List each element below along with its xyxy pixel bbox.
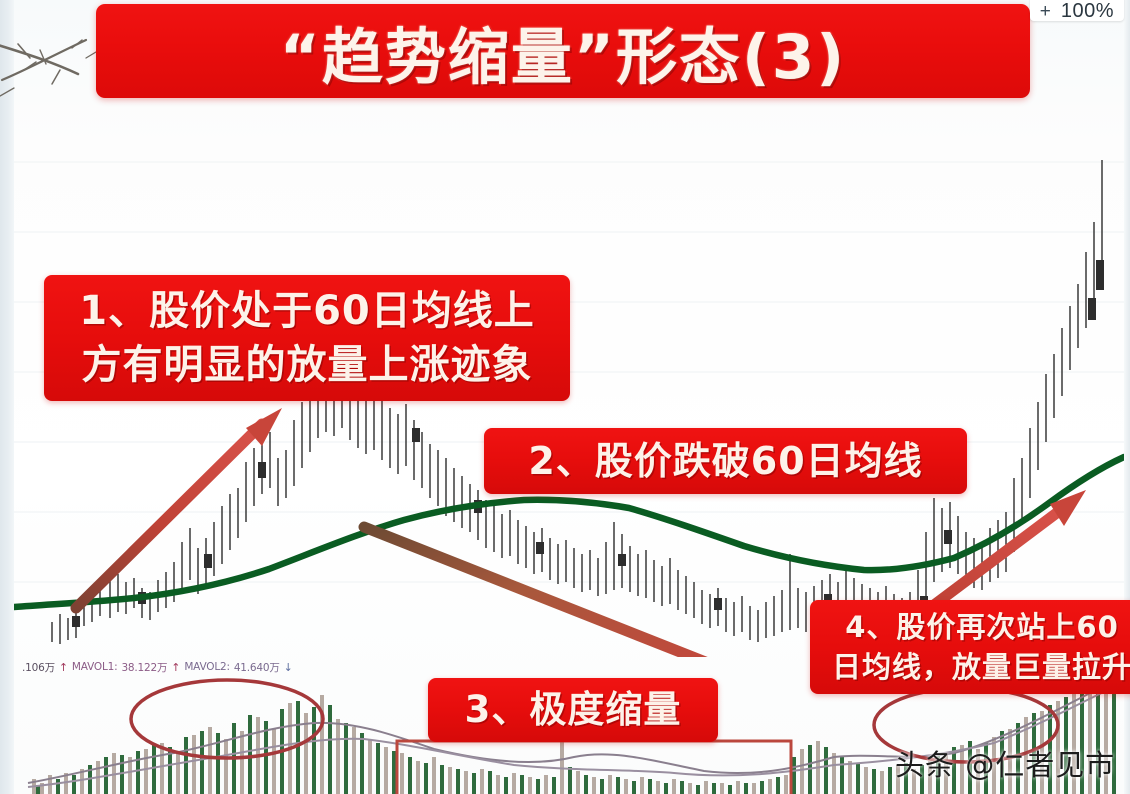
candlestick-series: [52, 160, 1102, 644]
mavol2-down-arrow-icon: ↓: [284, 661, 293, 674]
zoom-level-label: 100%: [1061, 3, 1114, 20]
callout-box-2: 2、股价跌破60日均线: [484, 428, 967, 494]
callout-box-1: 1、股价处于60日均线上 方有明显的放量上涨迹象: [44, 275, 570, 401]
mavol2-value: 41.640万: [234, 660, 280, 675]
page-left-margin: [0, 0, 14, 794]
watermark: 头条 @仁者见市: [895, 742, 1115, 784]
callout-1-line-2: 方有明显的放量上涨迹象: [82, 338, 533, 392]
callout-1-line-1: 1、股价处于60日均线上: [79, 284, 535, 338]
zoom-in-icon[interactable]: +: [1040, 3, 1051, 20]
callout-2-line-1: 2、股价跌破60日均线: [528, 436, 922, 486]
mavol1-value: 38.122万: [121, 660, 167, 675]
volume-value: .106万: [22, 660, 55, 675]
mavol2-label: MAVOL2:: [184, 661, 230, 673]
volume-up-arrow-icon: ↑: [59, 661, 68, 674]
page-title: “趋势缩量”形态(3): [280, 7, 846, 96]
arrow-breakdown: [364, 527, 778, 657]
screenshot-root: .106万 ↑ MAVOL1: 38.122万 ↑ MAVOL2: 41.640…: [0, 0, 1130, 794]
callout-4-line-2: 日均线，放量巨量拉升: [832, 647, 1130, 687]
callout-3-line-1: 3、极度缩量: [465, 686, 682, 734]
volume-indicator-readout: .106万 ↑ MAVOL1: 38.122万 ↑ MAVOL2: 41.640…: [22, 657, 362, 677]
zoom-control[interactable]: + 100%: [1030, 0, 1124, 21]
mavol1-up-arrow-icon: ↑: [171, 661, 180, 674]
mavol1-label: MAVOL1:: [72, 661, 118, 673]
callout-box-4: 4、股价再次站上60 日均线，放量巨量拉升: [810, 600, 1130, 694]
callout-box-3: 3、极度缩量: [428, 678, 718, 742]
title-banner: “趋势缩量”形态(3): [96, 4, 1030, 98]
callout-4-line-1: 4、股价再次站上60: [845, 607, 1119, 647]
